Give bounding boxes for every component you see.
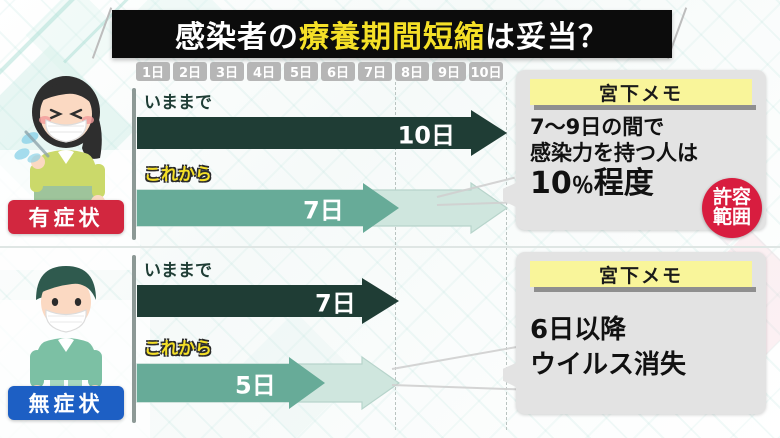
bar-symptomatic-until-now: 10日 (137, 110, 507, 156)
axis-baseline (132, 88, 136, 240)
memo-emphasis-number: 10 (530, 166, 572, 201)
badge-line-2: 範囲 (713, 208, 751, 228)
title-banner: 感染者の療養期間短縮は妥当？ (112, 10, 672, 58)
day-tick: 10日 (469, 62, 503, 81)
memo-card-2: 宮下メモ 6日以降 ウイルス消失 (516, 252, 766, 414)
title-suffix: は妥当？ (485, 20, 609, 55)
day-tick: 2日 (173, 62, 207, 81)
memo-body-2: 6日以降 ウイルス消失 (516, 287, 766, 383)
day-tick: 5日 (284, 62, 318, 81)
memo-header-1: 宮下メモ (530, 79, 752, 105)
day-tick: 3日 (210, 62, 244, 81)
day-tick: 1日 (136, 62, 170, 81)
badge-line-1: 許容 (713, 188, 751, 208)
status-badge-symptomatic: 有症状 (8, 200, 124, 234)
day-tick: 9日 (432, 62, 466, 81)
memo-line: 感染力を持つ人は (530, 141, 752, 167)
day-scale: 1日 2日 3日 4日 5日 6日 7日 8日 9日 10日 (136, 62, 503, 81)
bar-symptomatic-from-now: 7日 (137, 182, 507, 234)
memo-header-label: 宮下メモ (599, 261, 683, 288)
title-prefix: 感染者の (175, 20, 299, 55)
acceptable-range-badge: 許容 範囲 (702, 178, 762, 238)
memo-header-label: 宮下メモ (599, 79, 683, 106)
bar-asymptomatic-from-now: 5日 (137, 356, 407, 410)
memo-emphasis-unit: ％ (572, 174, 594, 199)
day-tick: 7日 (358, 62, 392, 81)
memo-header-2: 宮下メモ (530, 261, 752, 287)
axis-baseline (132, 255, 136, 423)
bar-value-symptomatic-until-now: 10日 (398, 116, 455, 151)
broadcast-graphic: 感染者の療養期間短縮は妥当？ 1日 2日 3日 4日 5日 6日 7日 8日 9… (0, 0, 780, 438)
page-title: 感染者の療養期間短縮は妥当？ (175, 12, 609, 56)
memo-line: 7〜9日の間で (530, 115, 752, 141)
memo-emphasis-suffix: 程度 (594, 166, 654, 201)
memo-card-1: 宮下メモ 7〜9日の間で 感染力を持つ人は 10％程度 許容 範囲 (516, 70, 766, 230)
memo-line: 6日以降 (530, 313, 752, 348)
day-tick: 8日 (395, 62, 429, 81)
memo-line: ウイルス消失 (530, 348, 752, 383)
bar-value-asymptomatic-from-now: 5日 (235, 366, 276, 401)
bar-value-asymptomatic-until-now: 7日 (315, 284, 356, 319)
title-highlight: 療養期間短縮 (299, 20, 485, 55)
bar-value-symptomatic-from-now: 7日 (303, 191, 344, 226)
bar-asymptomatic-until-now: 7日 (137, 278, 407, 324)
day-tick: 6日 (321, 62, 355, 81)
day-tick: 4日 (247, 62, 281, 81)
section-divider (0, 246, 780, 248)
status-badge-asymptomatic: 無症状 (8, 386, 124, 420)
